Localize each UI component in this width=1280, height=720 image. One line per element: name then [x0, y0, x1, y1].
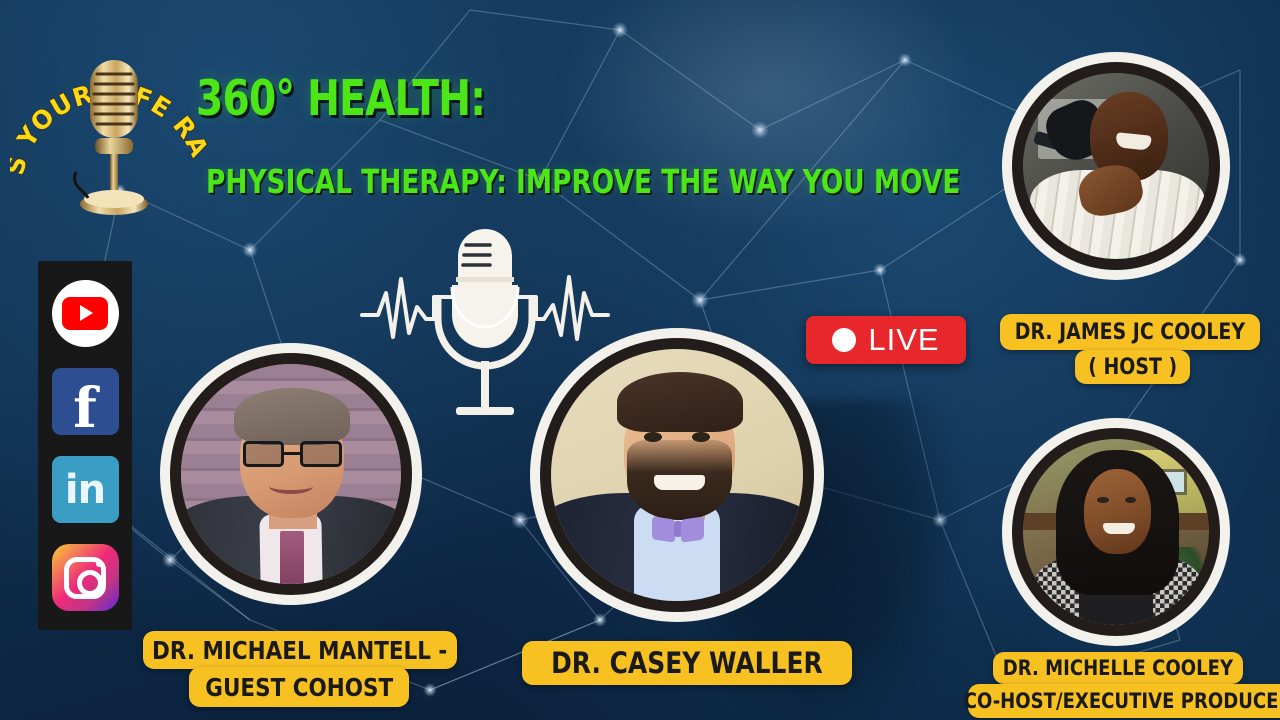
play-triangle-icon: [80, 305, 93, 321]
avatar-photo-waller: [551, 349, 803, 601]
social-link-facebook[interactable]: f: [52, 368, 119, 435]
avatar-photo-michelle-cooley: [1023, 439, 1209, 625]
broadcast-overlay: IT'S YOUR LIFE RADIO: [0, 0, 1280, 720]
social-links-bar: f in: [38, 261, 132, 630]
participant-name-text: DR. MICHAEL MANTELL -: [152, 636, 447, 665]
participant-role-text: ( HOST ): [1088, 355, 1177, 380]
live-label: LIVE: [868, 322, 939, 358]
participant-role-mantell: GUEST COHOST: [189, 667, 409, 707]
participant-role-jc-cooley: ( HOST ): [1075, 350, 1190, 384]
record-dot-icon: [832, 328, 856, 352]
avatar-photo-mantell: [181, 364, 401, 584]
participant-name-waller: DR. CASEY WALLER: [522, 641, 852, 685]
avatar-ring: [1012, 62, 1220, 270]
background-glow: [560, 0, 980, 240]
social-link-instagram[interactable]: [52, 544, 119, 611]
social-link-youtube[interactable]: [52, 280, 119, 347]
participant-role-text: GUEST COHOST: [205, 673, 393, 702]
avatar-ring: [170, 353, 412, 595]
vintage-microphone-icon: [68, 54, 160, 219]
participant-avatar-jc-cooley[interactable]: [1002, 52, 1230, 280]
participant-role-text: CO-HOST/EXECUTIVE PRODUCER: [964, 689, 1280, 713]
participant-avatar-michelle-cooley[interactable]: [1002, 418, 1230, 646]
participant-avatar-waller[interactable]: [530, 328, 824, 622]
participant-name-jc-cooley: DR. JAMES JC COOLEY: [1000, 314, 1260, 350]
instagram-icon: [64, 557, 106, 599]
participant-role-michelle-cooley: CO-HOST/EXECUTIVE PRODUCER: [968, 684, 1280, 718]
social-link-linkedin[interactable]: in: [52, 456, 119, 523]
avatar-ring: [540, 338, 814, 612]
avatar-photo-jc-cooley: [1023, 73, 1209, 259]
linkedin-icon: in: [65, 467, 105, 513]
facebook-icon: f: [73, 382, 97, 435]
youtube-icon: [62, 297, 108, 330]
participant-avatar-mantell[interactable]: [160, 343, 422, 605]
participant-name-mantell: DR. MICHAEL MANTELL -: [143, 631, 457, 669]
live-badge[interactable]: LIVE: [806, 316, 966, 364]
page-subtitle: PHYSICAL THERAPY: IMPROVE THE WAY YOU MO…: [206, 165, 960, 198]
participant-name-text: DR. JAMES JC COOLEY: [1015, 320, 1245, 345]
participant-name-michelle-cooley: DR. MICHELLE COOLEY: [993, 652, 1243, 684]
participant-name-text: DR. CASEY WALLER: [551, 646, 823, 680]
station-logo[interactable]: IT'S YOUR LIFE RADIO: [10, 2, 210, 222]
page-title: 360° HEALTH:: [196, 74, 485, 123]
participant-name-text: DR. MICHELLE COOLEY: [1003, 656, 1233, 680]
avatar-ring: [1012, 428, 1220, 636]
